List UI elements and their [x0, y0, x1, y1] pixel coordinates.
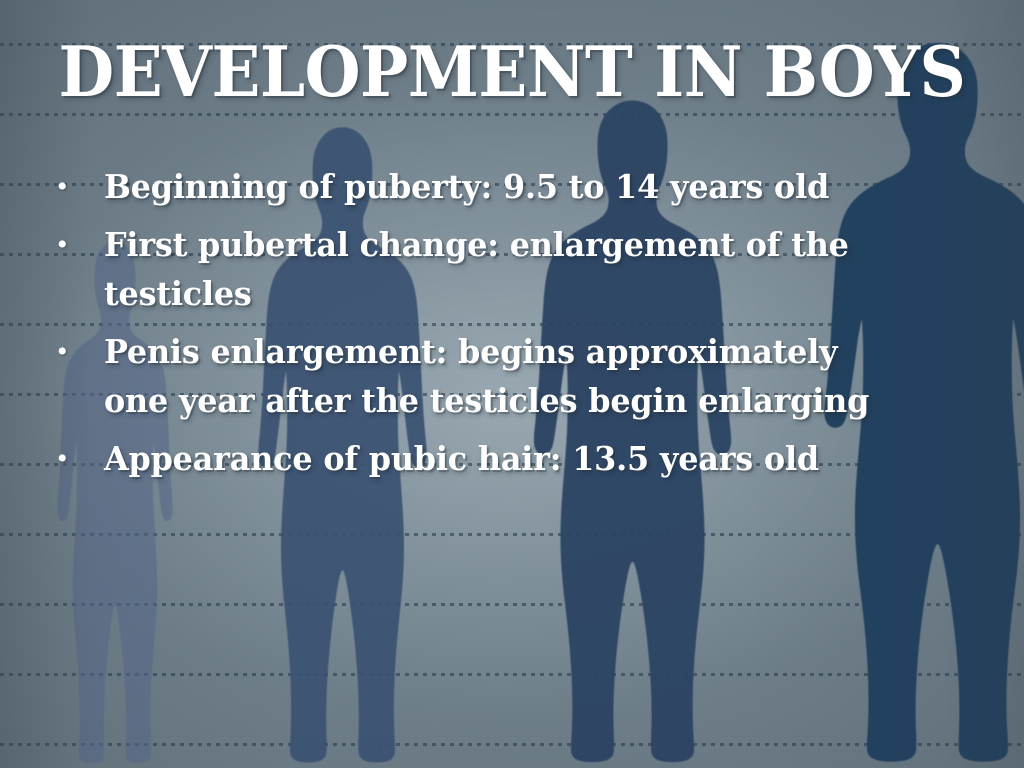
bullet-text: First pubertal change: enlargement of th…	[104, 220, 905, 318]
bullet-dot-icon: •	[44, 434, 104, 483]
bullet-list: •Beginning of puberty: 9.5 to 14 years o…	[44, 162, 934, 492]
bullet-dot-icon: •	[44, 327, 104, 376]
bullet-text: Penis enlargement: begins approximately …	[104, 327, 905, 425]
slide-canvas: DEVELOPMENT IN BOYS •Beginning of pubert…	[0, 0, 1024, 768]
bullet-item: •Penis enlargement: begins approximately…	[44, 327, 934, 425]
page-title: DEVELOPMENT IN BOYS	[36, 38, 988, 108]
bullet-dot-icon: •	[44, 162, 104, 211]
bullet-text: Beginning of puberty: 9.5 to 14 years ol…	[104, 162, 905, 211]
bullet-item: •Appearance of pubic hair: 13.5 years ol…	[44, 434, 934, 483]
bullet-dot-icon: •	[44, 220, 104, 269]
bullet-item: •Beginning of puberty: 9.5 to 14 years o…	[44, 162, 934, 211]
bullet-text: Appearance of pubic hair: 13.5 years old	[104, 434, 905, 483]
bullet-item: •First pubertal change: enlargement of t…	[44, 220, 934, 318]
